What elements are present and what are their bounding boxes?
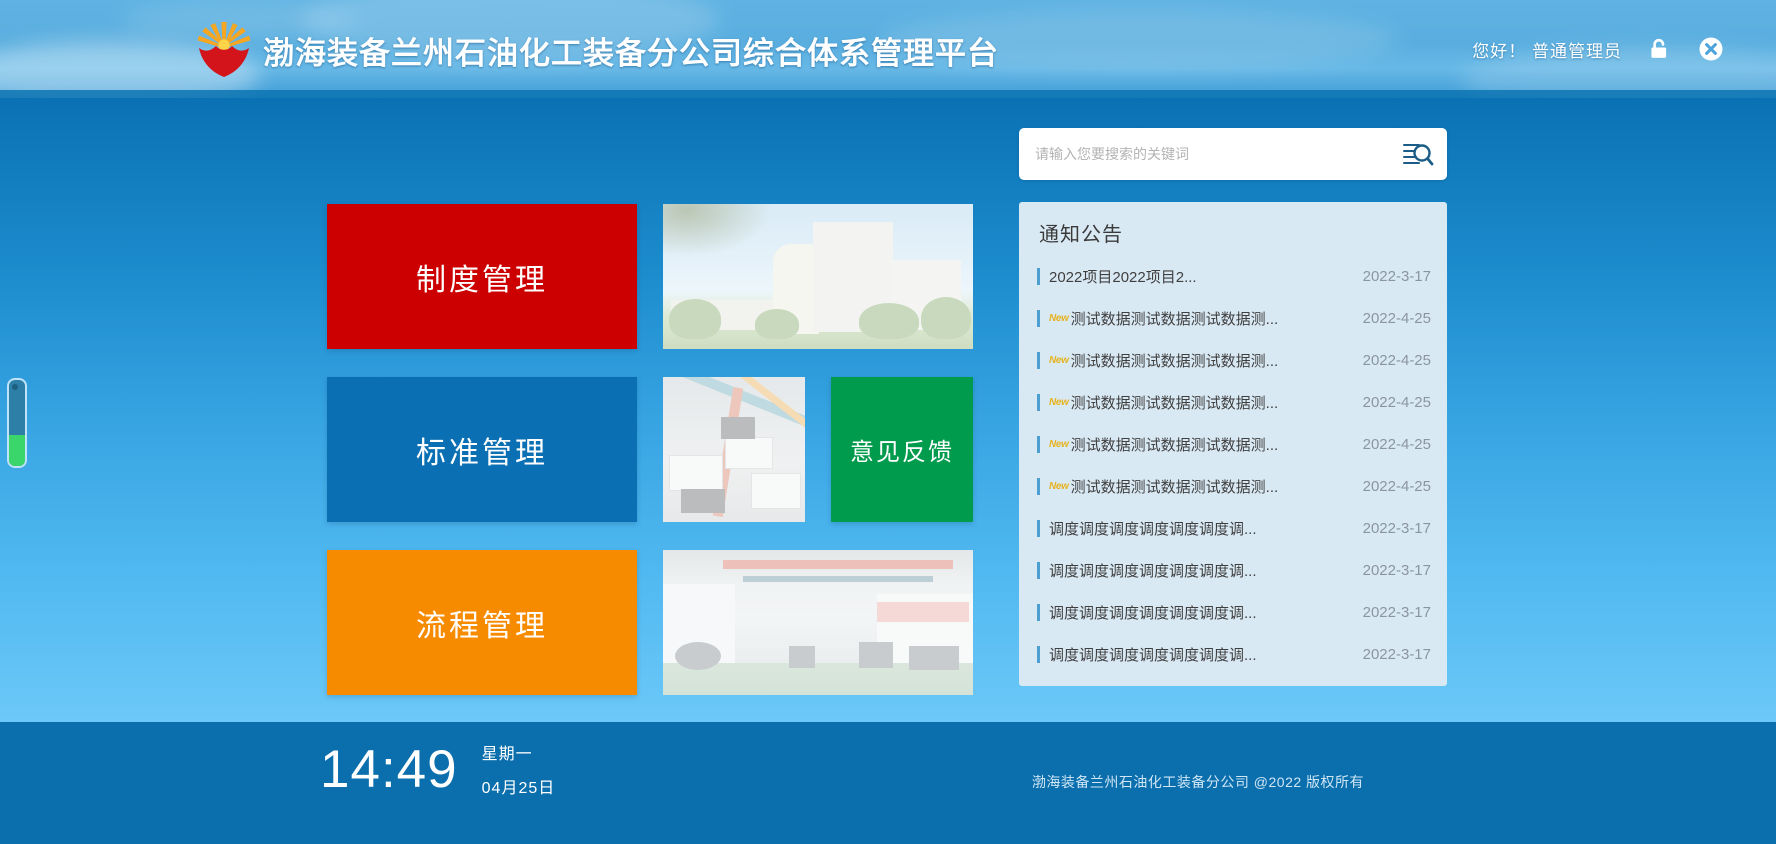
new-badge-icon: New	[1049, 313, 1069, 324]
list-item[interactable]: New 测试数据测试数据测试数据测... 2022-4-25	[1035, 465, 1431, 507]
notice-text: 2022项目2022项目2...	[1049, 266, 1363, 287]
copyright: 渤海装备兰州石油化工装备分公司 @2022 版权所有	[0, 772, 1776, 792]
tile-label: 制度管理	[416, 255, 548, 299]
notice-text: 调度调度调度调度调度调度调...	[1049, 602, 1363, 623]
notice-date: 2022-4-25	[1363, 394, 1431, 411]
office-building-photo	[663, 204, 973, 349]
new-badge-icon: New	[1049, 355, 1069, 366]
workshop-hall-photo	[663, 550, 973, 695]
tile-label: 流程管理	[416, 601, 548, 645]
slider-fill	[9, 435, 25, 466]
list-item[interactable]: New 测试数据测试数据测试数据测... 2022-4-25	[1035, 297, 1431, 339]
tile-standard-management[interactable]: 标准管理	[327, 377, 637, 522]
clock-weekday: 星期一	[482, 740, 556, 764]
photo-shape	[743, 576, 933, 582]
tile-feedback[interactable]: 意见反馈	[831, 377, 973, 522]
photo-shape	[721, 417, 755, 439]
tile-label: 意见反馈	[850, 432, 954, 467]
photo-shape	[669, 455, 723, 491]
greeting-text: 您好！ 普通管理员	[1472, 37, 1622, 62]
photo-shape	[725, 437, 773, 469]
photo-shape	[713, 387, 743, 517]
workshop-crane-photo	[663, 377, 805, 522]
copyright-text: 渤海装备兰州石油化工装备分公司 @2022 版权所有	[1032, 774, 1364, 790]
notice-panel: 通知公告 2022项目2022项目2... 2022-3-17 New 测试数据…	[1019, 202, 1447, 686]
photo-shape	[751, 473, 801, 509]
photo-shape	[755, 309, 799, 339]
list-item[interactable]: New 测试数据测试数据测试数据测... 2022-4-25	[1035, 423, 1431, 465]
notice-date: 2022-3-17	[1363, 520, 1431, 537]
photo-shape	[723, 560, 953, 569]
tile-grid: 制度管理 标准管理	[327, 204, 973, 723]
notice-date: 2022-4-25	[1363, 310, 1431, 327]
bullet-bar-icon	[1037, 478, 1040, 495]
photo-shape	[877, 602, 969, 622]
notice-list: 2022项目2022项目2... 2022-3-17 New 测试数据测试数据测…	[1035, 255, 1431, 675]
list-item[interactable]: 调度调度调度调度调度调度调... 2022-3-17	[1035, 633, 1431, 675]
bullet-bar-icon	[1037, 394, 1040, 411]
app-header: 渤海装备兰州石油化工装备分公司综合体系管理平台 您好！ 普通管理员	[0, 0, 1776, 98]
notice-date: 2022-3-17	[1363, 646, 1431, 663]
notice-date: 2022-4-25	[1363, 478, 1431, 495]
photo-shape	[891, 260, 961, 330]
notice-text: 测试数据测试数据测试数据测...	[1071, 308, 1363, 329]
app-root: 渤海装备兰州石油化工装备分公司综合体系管理平台 您好！ 普通管理员	[0, 0, 1776, 844]
notice-date: 2022-4-25	[1363, 436, 1431, 453]
notice-text: 测试数据测试数据测试数据测...	[1071, 350, 1363, 371]
header-bottom-strip	[0, 90, 1776, 98]
photo-shape	[859, 303, 919, 339]
notice-text: 调度调度调度调度调度调度调...	[1049, 518, 1363, 539]
brand: 渤海装备兰州石油化工装备分公司综合体系管理平台	[195, 20, 999, 80]
notice-date: 2022-3-17	[1363, 562, 1431, 579]
photo-shape	[681, 489, 725, 513]
photo-shape	[663, 550, 973, 584]
close-icon[interactable]	[1696, 34, 1726, 64]
list-item[interactable]: 调度调度调度调度调度调度调... 2022-3-17	[1035, 549, 1431, 591]
list-item[interactable]: 调度调度调度调度调度调度调... 2022-3-17	[1035, 591, 1431, 633]
list-item[interactable]: New 测试数据测试数据测试数据测... 2022-4-25	[1035, 339, 1431, 381]
tile-label: 标准管理	[416, 428, 548, 472]
photo-shape	[773, 244, 819, 334]
tile-row-1: 制度管理	[327, 204, 973, 349]
page-progress-slider[interactable]	[7, 378, 27, 468]
tile-row-3: 流程管理	[327, 550, 973, 695]
photo-shape	[671, 300, 781, 330]
notice-text: 测试数据测试数据测试数据测...	[1071, 434, 1363, 455]
notice-text: 调度调度调度调度调度调度调...	[1049, 644, 1363, 665]
new-badge-icon: New	[1049, 481, 1069, 492]
bullet-bar-icon	[1037, 268, 1040, 285]
photo-shape	[663, 663, 973, 695]
photo-shape	[663, 377, 805, 434]
photo-shape	[697, 377, 805, 435]
tile-process-management[interactable]: 流程管理	[327, 550, 637, 695]
notice-date: 2022-4-25	[1363, 352, 1431, 369]
new-badge-icon: New	[1049, 397, 1069, 408]
bullet-bar-icon	[1037, 562, 1040, 579]
new-badge-icon: New	[1049, 439, 1069, 450]
list-item[interactable]: New 测试数据测试数据测试数据测... 2022-4-25	[1035, 381, 1431, 423]
search-bar[interactable]	[1019, 128, 1447, 180]
list-item[interactable]: 2022项目2022项目2... 2022-3-17	[1035, 255, 1431, 297]
user-area: 您好！ 普通管理员	[1472, 34, 1726, 64]
search-list-icon[interactable]	[1389, 128, 1447, 180]
bullet-bar-icon	[1037, 352, 1040, 369]
notice-text: 测试数据测试数据测试数据测...	[1071, 476, 1363, 497]
photo-shape	[789, 646, 815, 668]
notice-panel-title: 通知公告	[1035, 202, 1431, 255]
photo-shape	[663, 584, 735, 672]
notice-text: 测试数据测试数据测试数据测...	[1071, 392, 1363, 413]
photo-shape	[877, 594, 973, 672]
page-title: 渤海装备兰州石油化工装备分公司综合体系管理平台	[263, 28, 999, 73]
photo-shape	[669, 299, 721, 339]
notice-date: 2022-3-17	[1363, 604, 1431, 621]
unlock-icon[interactable]	[1644, 34, 1674, 64]
list-item[interactable]: 调度调度调度调度调度调度调... 2022-3-17	[1035, 507, 1431, 549]
photo-shape	[859, 642, 893, 668]
photo-shape	[909, 646, 959, 670]
photo-shape	[675, 642, 721, 670]
bullet-bar-icon	[1037, 604, 1040, 621]
bullet-bar-icon	[1037, 310, 1040, 327]
photo-shape	[813, 222, 893, 332]
tile-system-management[interactable]: 制度管理	[327, 204, 637, 349]
petrochina-logo-icon	[195, 20, 253, 80]
notice-text: 调度调度调度调度调度调度调...	[1049, 560, 1363, 581]
photo-shape	[663, 204, 783, 264]
slider-knob[interactable]	[12, 384, 18, 390]
bullet-bar-icon	[1037, 646, 1040, 663]
bullet-bar-icon	[1037, 436, 1040, 453]
bullet-bar-icon	[1037, 520, 1040, 537]
tile-row-2: 标准管理 意见反馈	[327, 377, 973, 522]
search-input[interactable]	[1019, 130, 1389, 178]
notice-date: 2022-3-17	[1363, 268, 1431, 285]
photo-shape	[921, 297, 971, 339]
